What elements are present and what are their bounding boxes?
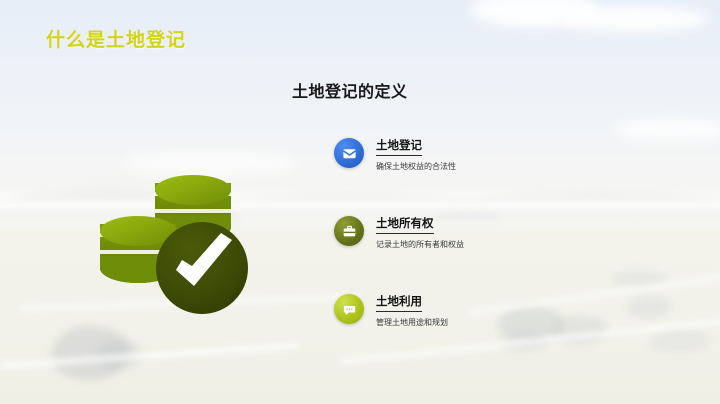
slide-canvas: 什么是土地登记 土地登记的定义 [0, 0, 720, 404]
list-item-title: 土地登记 [376, 138, 422, 156]
background-cloud [612, 118, 720, 142]
list-item-desc: 管理土地用途和规划 [376, 317, 448, 329]
coin-stack-illustration [96, 168, 286, 320]
list-item-text: 土地所有权 记录土地的所有者和权益 [376, 214, 464, 251]
section-heading: 土地登记的定义 [292, 78, 408, 102]
list-item-desc: 记录土地的所有者和权益 [376, 239, 464, 251]
list-item-desc: 确保土地权益的合法性 [376, 161, 456, 173]
list-item-text: 土地登记 确保土地权益的合法性 [376, 136, 456, 173]
list-item[interactable]: 土地利用 管理土地用途和规划 [334, 292, 584, 370]
background-cloud [560, 6, 710, 32]
list-item-title: 土地利用 [376, 294, 422, 312]
list-item-text: 土地利用 管理土地用途和规划 [376, 292, 448, 329]
list-item[interactable]: 土地所有权 记录土地的所有者和权益 [334, 214, 584, 292]
chat-bubble-icon [334, 294, 364, 324]
slide-title: 什么是土地登记 [46, 25, 186, 52]
list-item-title: 土地所有权 [376, 216, 434, 234]
briefcase-icon [334, 216, 364, 246]
list-item[interactable]: 土地登记 确保土地权益的合法性 [334, 136, 584, 214]
definition-bullet-list: 土地登记 确保土地权益的合法性 土地所有权 记录土地的所有者和权益 [334, 136, 584, 370]
envelope-icon [334, 138, 364, 168]
